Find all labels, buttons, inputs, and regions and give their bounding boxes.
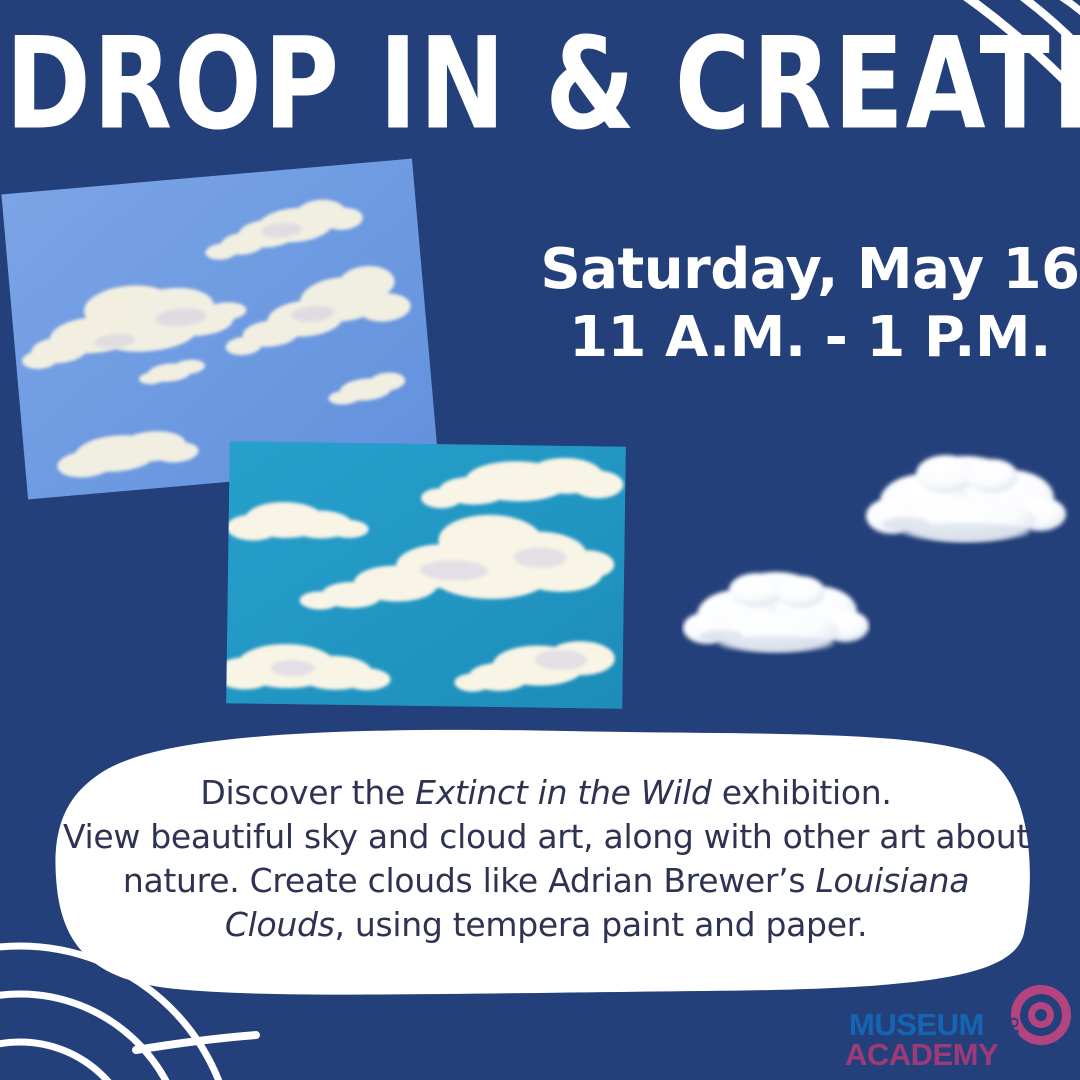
event-time: 11 A.M. - 1 P.M. bbox=[540, 304, 1080, 372]
event-datetime: Saturday, May 16 11 A.M. - 1 P.M. bbox=[540, 236, 1080, 373]
description-line-2: View beautiful sky and cloud art, along … bbox=[42, 815, 1050, 859]
logo-text-academy: ACADEMY bbox=[845, 1037, 999, 1072]
description-text: Discover the Extinct in the Wild exhibit… bbox=[42, 771, 1050, 947]
logo-text-of-art: OF ART bbox=[1006, 1017, 1022, 1075]
cloud-graphic-small bbox=[681, 558, 871, 662]
event-date: Saturday, May 16 bbox=[540, 236, 1080, 304]
description-line-1: Discover the Extinct in the Wild exhibit… bbox=[42, 771, 1050, 815]
decorative-dash-stroke bbox=[132, 1030, 262, 1056]
poster-canvas: DROP IN & CREATE Saturday, May 16 11 A.M… bbox=[0, 0, 1080, 1080]
description-line-4: Clouds, using tempera paint and paper. bbox=[42, 903, 1050, 947]
description-card: Discover the Extinct in the Wild exhibit… bbox=[46, 727, 1046, 995]
cloud-graphic-large bbox=[862, 440, 1070, 552]
description-line-3: nature. Create clouds like Adrian Brewer… bbox=[42, 859, 1050, 903]
artwork-photo-cloud-painting-2 bbox=[226, 441, 626, 709]
huntsville-museum-of-art-academy-logo: HUNTSVILLE MUSEUM ACADEMY OF ART bbox=[845, 985, 1080, 1080]
page-title: DROP IN & CREATE bbox=[5, 20, 1074, 147]
